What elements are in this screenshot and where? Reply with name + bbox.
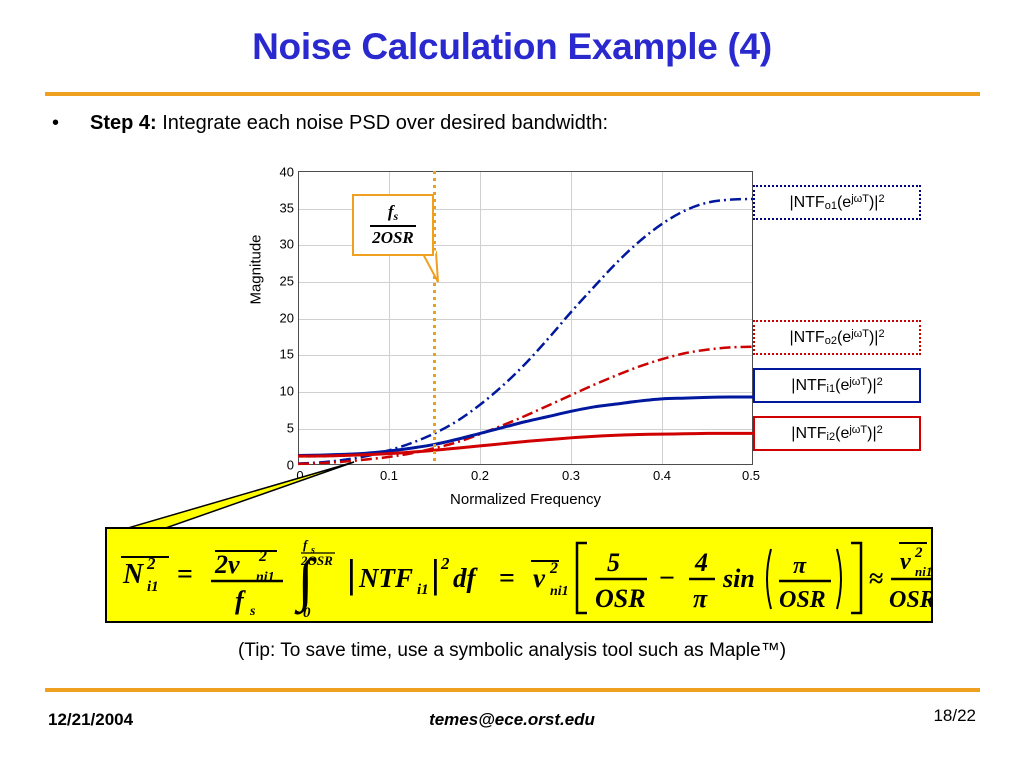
svg-text:−: − — [659, 563, 675, 594]
y-axis-ticks: 0 5 10 15 20 25 30 35 40 — [260, 171, 294, 465]
svg-text:OSR: OSR — [889, 587, 931, 613]
x-tick: 0.4 — [653, 468, 671, 483]
svg-text:N: N — [122, 559, 145, 590]
svg-text:2OSR: 2OSR — [300, 553, 333, 568]
fraction-bar — [370, 225, 416, 227]
footer-email: temes@ece.orst.edu — [0, 710, 1024, 730]
footer-page-number: 18/22 — [933, 706, 976, 726]
svg-text:2: 2 — [258, 548, 267, 565]
legend-ntf-o1: |NTFo1(ejωT)|2 — [753, 185, 921, 220]
y-tick: 10 — [266, 384, 294, 399]
svg-text:2: 2 — [146, 554, 156, 573]
fs-over-2osr-fraction: fs 2OSR — [354, 196, 432, 254]
y-tick: 30 — [266, 237, 294, 252]
page-title: Noise Calculation Example (4) — [0, 26, 1024, 68]
svg-text:v: v — [900, 549, 911, 575]
legend-ntf-i1: |NTFi1(ejωT)|2 — [753, 368, 921, 403]
y-tick: 25 — [266, 274, 294, 289]
legend-ntf-o2: |NTFo2(ejωT)|2 — [753, 320, 921, 355]
y-tick: 35 — [266, 201, 294, 216]
svg-text:5: 5 — [607, 548, 620, 577]
svg-text:s: s — [249, 604, 256, 619]
svg-text:2: 2 — [914, 545, 923, 561]
svg-text:f: f — [235, 586, 246, 615]
y-tick: 5 — [266, 421, 294, 436]
svg-text:|: | — [431, 551, 440, 596]
fs-denominator: 2OSR — [372, 229, 414, 247]
svg-text:ni1: ni1 — [550, 584, 569, 599]
svg-text:=: = — [177, 559, 193, 590]
bullet-bold-lead: Step 4: — [90, 112, 157, 134]
slide: Noise Calculation Example (4) • Step 4: … — [0, 0, 1024, 768]
x-tick: 0.5 — [742, 468, 760, 483]
svg-text:OSR: OSR — [595, 584, 646, 613]
svg-text:df: df — [453, 563, 479, 593]
svg-text:0: 0 — [303, 605, 311, 621]
bullet-rest: Integrate each noise PSD over desired ba… — [157, 112, 608, 134]
svg-text:π: π — [793, 553, 807, 579]
svg-text:2v: 2v — [214, 550, 240, 579]
svg-text:i1: i1 — [417, 582, 429, 598]
tip-text: (Tip: To save time, use a symbolic analy… — [0, 640, 1024, 662]
x-tick: 0.2 — [471, 468, 489, 483]
svg-text:ni1: ni1 — [256, 570, 275, 585]
svg-text:sin: sin — [722, 564, 755, 593]
y-tick: 40 — [266, 165, 294, 180]
svg-text:=: = — [499, 563, 515, 594]
bullet-marker: • — [52, 112, 59, 135]
svg-text:≈: ≈ — [869, 564, 883, 593]
legend-ntf-i2: |NTFi2(ejωT)|2 — [753, 416, 921, 451]
legend-text: |NTFo1(ejωT)|2 — [789, 193, 884, 212]
svg-text:2: 2 — [549, 560, 558, 577]
svg-text:|: | — [347, 551, 356, 596]
svg-text:ni1: ni1 — [915, 564, 931, 579]
legend-text: |NTFi2(ejωT)|2 — [791, 424, 882, 443]
svg-text:NTF: NTF — [358, 563, 413, 593]
svg-text:v: v — [533, 563, 546, 593]
legend-text: |NTFi1(ejωT)|2 — [791, 376, 882, 395]
y-tick: 20 — [266, 311, 294, 326]
svg-text:2: 2 — [440, 554, 450, 573]
fs-over-2osr-callout: fs 2OSR — [352, 194, 434, 256]
svg-text:OSR: OSR — [779, 587, 826, 613]
footer-divider — [45, 688, 980, 692]
svg-text:i1: i1 — [147, 579, 159, 595]
equation-svg: N 2 i1 = 2v 2 ni1 f s ∫ f s 2OSR 0 — [107, 529, 931, 621]
fs-numerator: fs — [388, 203, 398, 223]
svg-text:4: 4 — [694, 548, 708, 577]
svg-text:π: π — [693, 584, 708, 613]
x-tick: 0.3 — [562, 468, 580, 483]
title-divider — [45, 92, 980, 96]
equation-band: N 2 i1 = 2v 2 ni1 f s ∫ f s 2OSR 0 — [105, 527, 933, 623]
bullet-text: Step 4: Integrate each noise PSD over de… — [90, 112, 608, 135]
legend-text: |NTFo2(ejωT)|2 — [789, 328, 884, 347]
y-axis-title: Magnitude — [248, 200, 265, 340]
y-tick: 15 — [266, 347, 294, 362]
